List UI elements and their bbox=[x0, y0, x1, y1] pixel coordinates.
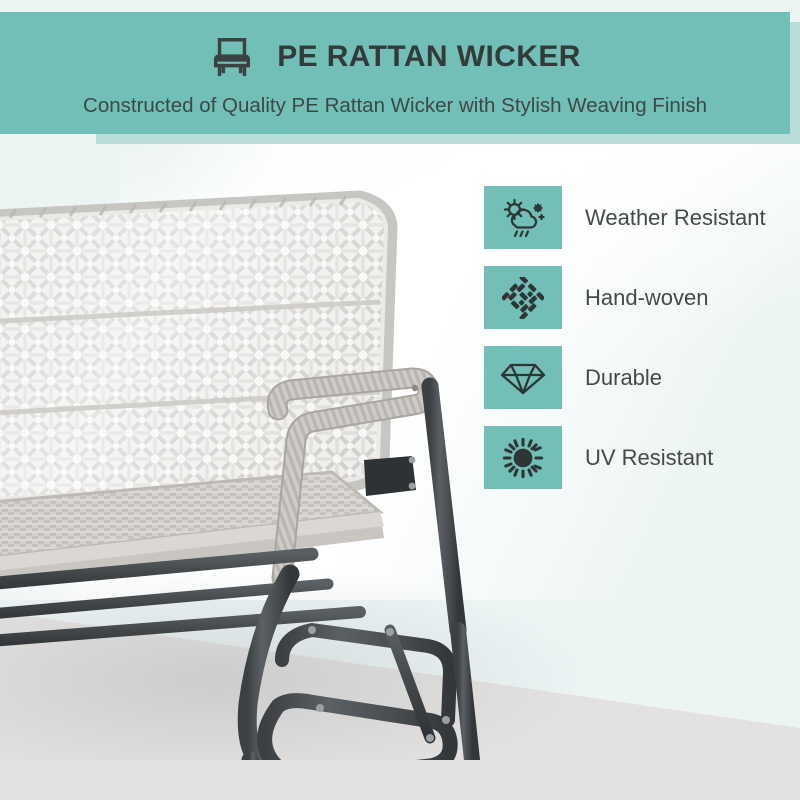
header-title-row: PE RATTAN WICKER bbox=[0, 28, 790, 86]
glider-bench-image bbox=[0, 160, 480, 760]
feature-list: Weather Resistant bbox=[484, 186, 800, 506]
diamond-icon bbox=[500, 359, 546, 397]
feature-icon-tile bbox=[484, 266, 562, 329]
feature-icon-tile bbox=[484, 346, 562, 409]
product-infographic: PE RATTAN WICKER Constructed of Quality … bbox=[0, 0, 800, 800]
header-band: PE RATTAN WICKER Constructed of Quality … bbox=[0, 12, 790, 134]
feature-label: Durable bbox=[585, 365, 662, 391]
feature-item-hand-woven: Hand-woven bbox=[484, 266, 800, 329]
woven-icon bbox=[502, 277, 544, 319]
weather-icon bbox=[500, 198, 546, 238]
feature-icon-tile bbox=[484, 186, 562, 249]
page-title: PE RATTAN WICKER bbox=[277, 40, 581, 74]
feature-item-uv-resistant: UV Resistant bbox=[484, 426, 800, 489]
feature-label: Hand-woven bbox=[585, 285, 709, 311]
feature-label: UV Resistant bbox=[585, 445, 713, 471]
chair-icon bbox=[209, 34, 255, 80]
feature-item-durable: Durable bbox=[484, 346, 800, 409]
header-subtitle: Constructed of Quality PE Rattan Wicker … bbox=[0, 94, 790, 118]
feature-icon-tile bbox=[484, 426, 562, 489]
sun-icon bbox=[502, 437, 544, 479]
feature-item-weather-resistant: Weather Resistant bbox=[484, 186, 800, 249]
feature-label: Weather Resistant bbox=[585, 205, 766, 231]
